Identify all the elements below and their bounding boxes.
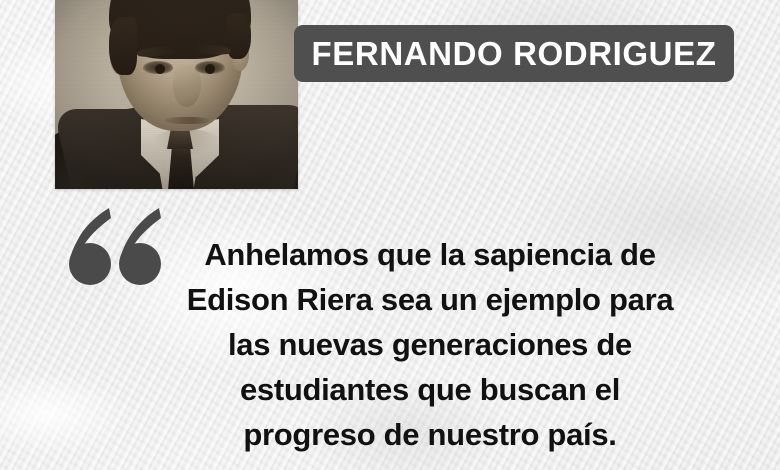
quote-line: progreso de nuestro país. — [90, 412, 770, 457]
quote-line: estudiantes que buscan el — [90, 367, 770, 412]
pupil-left — [155, 64, 165, 74]
person-name: FERNANDO RODRIGUEZ — [312, 37, 717, 70]
quote-line: Anhelamos que la sapiencia de — [90, 232, 770, 277]
quote-line: las nuevas generaciones de — [90, 322, 770, 367]
hair-sideburn-left — [109, 17, 137, 75]
portrait-photo — [55, 0, 298, 189]
quote-text: Anhelamos que la sapiencia de Edison Rie… — [90, 232, 770, 457]
name-banner: FERNANDO RODRIGUEZ — [294, 25, 734, 82]
quote-card: FERNANDO RODRIGUEZ Anhelamos que la sapi… — [0, 0, 780, 470]
chin-shading — [151, 129, 221, 157]
pupil-right — [205, 64, 215, 74]
quote-line: Edison Riera sea un ejemplo para — [90, 277, 770, 322]
mouth-shape — [165, 117, 209, 124]
